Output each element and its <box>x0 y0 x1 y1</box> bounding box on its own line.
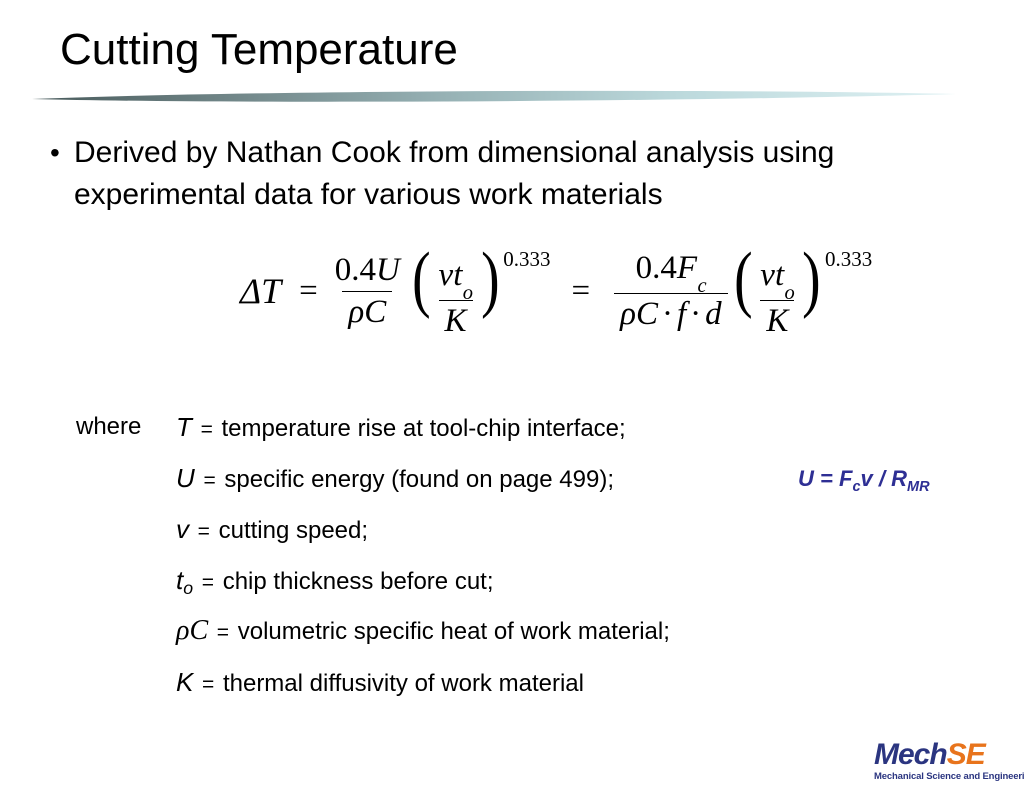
term2-den-rhoc: ρC <box>620 296 658 332</box>
definition-text-K: thermal diffusivity of work material <box>223 670 584 697</box>
definition-text-rhoC: volumetric specific heat of work materia… <box>238 618 670 645</box>
definition-text-v: cutting speed; <box>219 517 368 544</box>
annotation-equals: = <box>820 466 833 491</box>
definition-equals-3: = <box>200 571 216 594</box>
symbol-t-sub: o <box>183 578 193 598</box>
term2-power-t-sub: o <box>785 282 795 304</box>
symbol-rho-C: ρC <box>176 615 208 646</box>
bullet-item: • Derived by Nathan Cook from dimensiona… <box>44 132 944 216</box>
paren-left-2: ( <box>734 248 752 312</box>
specific-energy-annotation: U = Fcv / RMR <box>798 466 930 492</box>
term1-coefficient: 0.4 <box>335 252 376 288</box>
equation-term1-fraction: 0.4U ρC <box>329 252 406 330</box>
term1-power-fraction: vto K <box>433 257 479 339</box>
title-divider <box>30 88 958 106</box>
term1-exponent: 0.333 <box>503 247 550 272</box>
paren-right-2: ) <box>802 248 820 312</box>
definition-equals-4: = <box>215 621 231 644</box>
term2-den-f: f <box>677 296 686 332</box>
term2-power-v: v <box>760 257 775 293</box>
definition-row-v: v = cutting speed; <box>176 513 896 564</box>
definition-row-rhoC: ρC = volumetric specific heat of work ma… <box>176 615 896 666</box>
equation-term1-power-group: ( vto K ) 0.333 <box>409 250 550 332</box>
logo-se-text: SE <box>947 738 985 771</box>
definition-row-K: K = thermal diffusivity of work material <box>176 666 896 717</box>
definition-text-U: specific energy (found on page 499); <box>224 466 614 493</box>
logo-subtitle: Mechanical Science and Engineering <box>874 771 1020 782</box>
term2-denominator: ρC·f·d <box>614 293 728 332</box>
definition-equals-1: = <box>201 469 217 492</box>
logo-mech-text: Mech <box>874 738 947 771</box>
symbol-T: T <box>176 412 192 442</box>
cutting-temperature-equation: ΔT = 0.4U ρC ( vto K ) 0.333 = 0.4Fc ρC·… <box>240 250 871 332</box>
annotation-slash: / <box>879 466 885 491</box>
where-label: where <box>76 411 141 443</box>
definition-row-T: T = temperature rise at tool-chip interf… <box>176 411 896 462</box>
mechse-logo: MechSE Mechanical Science and Engineerin… <box>874 740 1020 786</box>
equation-term2-fraction: 0.4Fc ρC·f·d <box>614 250 728 332</box>
definition-text-T: temperature rise at tool-chip interface; <box>222 415 626 442</box>
definition-text-t0: chip thickness before cut; <box>223 568 494 595</box>
annotation-R-sub: MR <box>907 479 930 495</box>
bullet-text: Derived by Nathan Cook from dimensional … <box>74 132 914 216</box>
definition-row-t0: to = chip thickness before cut; <box>176 564 896 615</box>
term2-power-fraction: vto K <box>754 257 800 339</box>
term1-power-denominator: K <box>439 300 473 339</box>
term2-den-dot-2: · <box>686 296 705 332</box>
term2-exponent: 0.333 <box>825 247 872 272</box>
definition-row-U: U = specific energy (found on page 499); <box>176 462 896 513</box>
term2-numerator-symbol: F <box>677 250 697 286</box>
page-title: Cutting Temperature <box>60 22 458 78</box>
bullet-marker-icon: • <box>44 132 74 174</box>
term2-power-denominator: K <box>760 300 794 339</box>
definition-equals-5: = <box>200 673 216 696</box>
symbol-t: to <box>176 565 193 595</box>
term2-coefficient: 0.4 <box>636 250 677 286</box>
definition-equals-0: = <box>199 418 215 441</box>
term2-den-dot-1: · <box>658 296 677 332</box>
equation-lhs: ΔT <box>240 270 290 312</box>
term1-denominator: ρC <box>342 291 392 330</box>
equation-term2-power-group: ( vto K ) 0.333 <box>731 250 872 332</box>
logo-wordmark: MechSE <box>874 740 1020 770</box>
term2-numerator-symbol-sub: c <box>697 275 706 297</box>
definition-equals-2: = <box>196 520 212 543</box>
symbol-K: K <box>176 667 193 697</box>
annotation-R: R <box>891 466 907 491</box>
divider-lens-shape <box>30 88 958 106</box>
equation-equals-2: = <box>549 273 612 310</box>
term1-power-t-sub: o <box>463 282 473 304</box>
term2-den-d: d <box>705 296 722 332</box>
term2-power-numerator: vto <box>754 257 800 300</box>
term2-numerator: 0.4Fc <box>630 250 713 293</box>
annotation-F: F <box>839 466 852 491</box>
term1-power-t: t <box>453 257 462 293</box>
definition-list: T = temperature rise at tool-chip interf… <box>176 411 896 717</box>
term1-numerator: 0.4U <box>329 252 406 290</box>
term2-power-t: t <box>775 257 784 293</box>
term1-power-v: v <box>439 257 454 293</box>
annotation-v: v <box>861 466 873 491</box>
symbol-U: U <box>176 463 195 493</box>
symbol-v: v <box>176 514 189 544</box>
paren-right-1: ) <box>481 248 499 312</box>
term1-numerator-symbol: U <box>376 252 400 288</box>
paren-left-1: ( <box>412 248 430 312</box>
annotation-F-sub: c <box>852 479 860 495</box>
term1-power-numerator: vto <box>433 257 479 300</box>
annotation-U: U <box>798 466 814 491</box>
equation-equals-1: = <box>290 273 327 310</box>
